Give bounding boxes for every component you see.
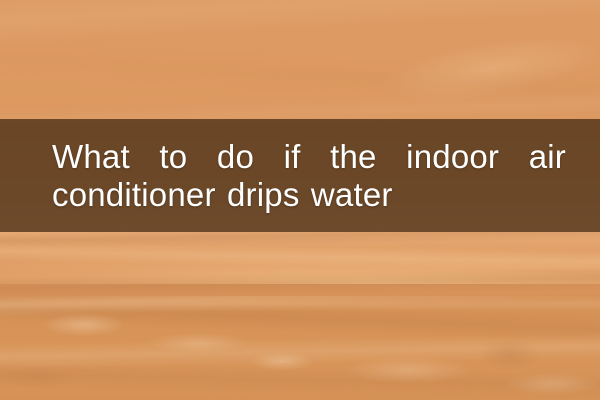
cloud-puffs xyxy=(0,286,600,400)
cloud-layer-upper xyxy=(0,0,600,122)
title-overlay-band: What to do if the indoor air conditioner… xyxy=(0,119,600,232)
thumbnail-title: What to do if the indoor air conditioner… xyxy=(0,138,600,214)
article-thumbnail[interactable]: What to do if the indoor air conditioner… xyxy=(0,0,600,400)
